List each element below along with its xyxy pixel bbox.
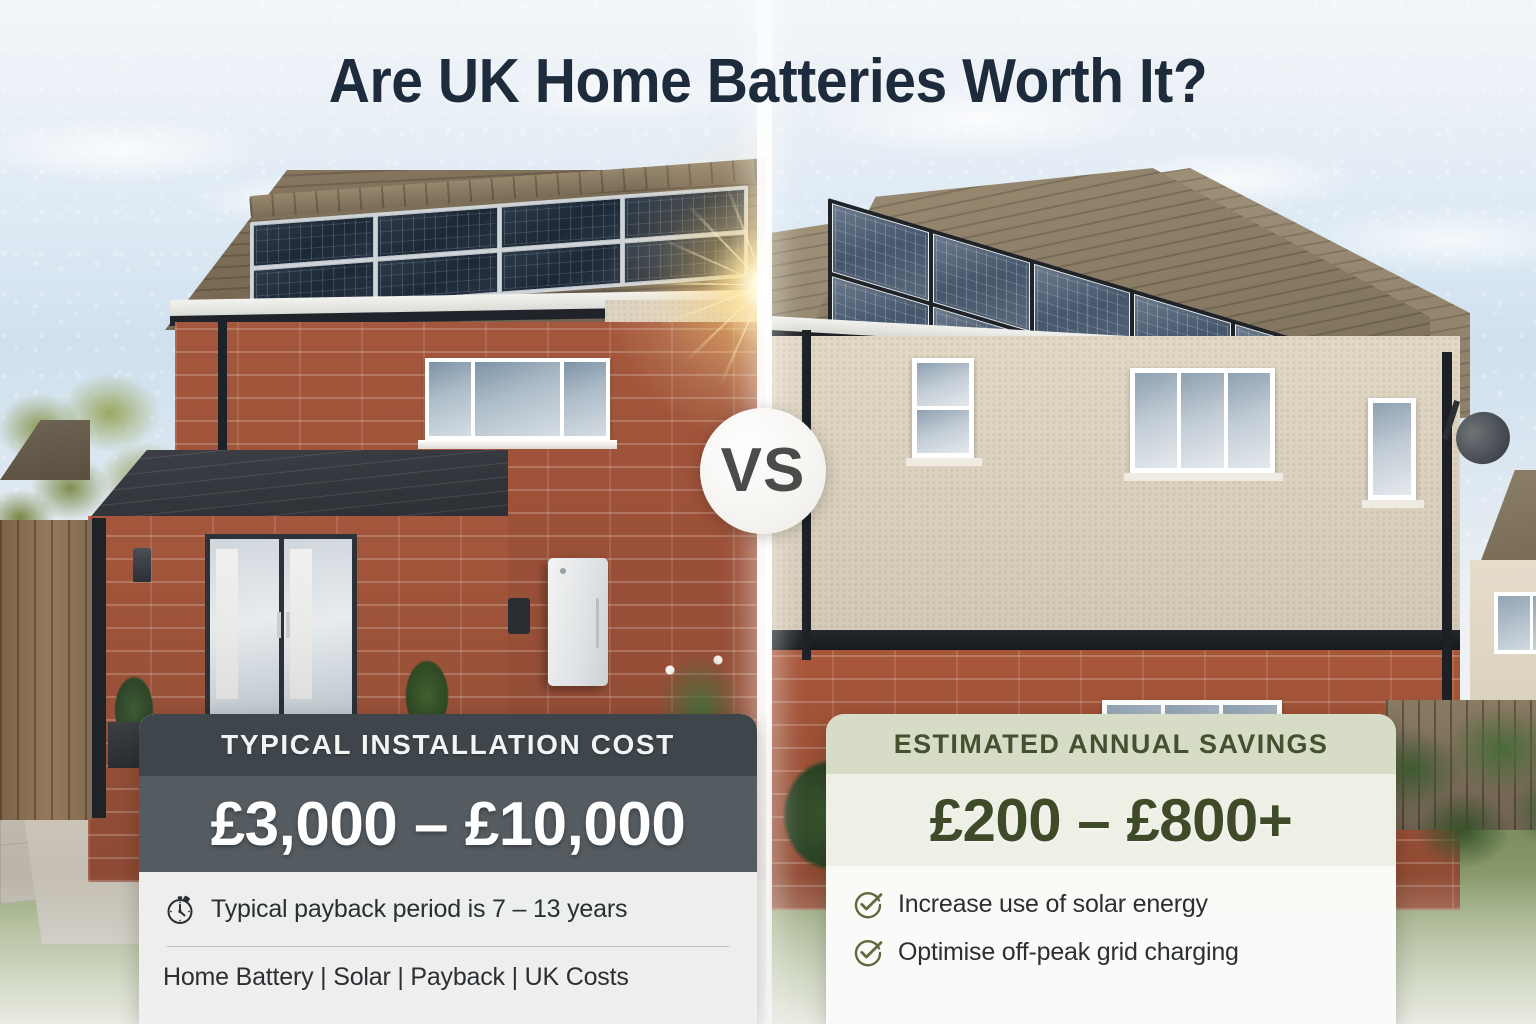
left-wooden-fence — [0, 520, 92, 820]
right-window-small-left — [912, 358, 974, 458]
installation-cost-body: Typical payback period is 7 – 13 years H… — [139, 872, 757, 1024]
annual-savings-header: ESTIMATED ANNUAL SAVINGS — [826, 714, 1396, 774]
right-neighbour-window — [1494, 592, 1536, 654]
benefit-item: Optimise off-peak grid charging — [852, 936, 1370, 968]
annual-savings-amount: £200 – £800+ — [930, 786, 1293, 855]
right-window-small-right — [1368, 398, 1416, 500]
installation-cost-header: TYPICAL INSTALLATION COST — [139, 714, 757, 776]
left-inverter-box — [508, 598, 530, 634]
card-divider-rule — [167, 946, 729, 947]
battery-indicator-led — [560, 568, 566, 574]
vs-badge: VS — [700, 408, 826, 534]
right-sill-1 — [906, 458, 982, 466]
installation-cost-amount: £3,000 – £10,000 — [211, 789, 686, 860]
installation-cost-value-band: £3,000 – £10,000 — [139, 776, 757, 872]
installation-cost-card: TYPICAL INSTALLATION COST £3,000 – £10,0… — [139, 714, 757, 1024]
right-sill-3 — [1362, 500, 1424, 508]
infographic-canvas: VS Are UK Home Batteries Worth It? TYPIC… — [0, 0, 1536, 1024]
left-gate-post — [92, 518, 106, 818]
left-upstairs-window — [425, 358, 610, 440]
annual-savings-header-label: ESTIMATED ANNUAL SAVINGS — [894, 729, 1329, 760]
installation-cost-header-label: TYPICAL INSTALLATION COST — [221, 729, 675, 761]
left-porch-roof — [88, 450, 508, 520]
page-title: Are UK Home Batteries Worth It? — [61, 46, 1474, 117]
left-window-sill — [418, 440, 617, 449]
annual-savings-card: ESTIMATED ANNUAL SAVINGS £200 – £800+ In… — [826, 714, 1396, 1024]
right-render-wall — [770, 336, 1460, 646]
payback-note-label: Typical payback period is 7 – 13 years — [211, 895, 627, 924]
home-battery-unit — [548, 558, 608, 686]
payback-note-row: Typical payback period is 7 – 13 years — [163, 892, 733, 926]
right-sill-2 — [1124, 473, 1283, 481]
left-wall-lamp — [133, 548, 151, 582]
annual-savings-body: Increase use of solar energy Optimise of… — [826, 866, 1396, 1024]
topic-tags: Home Battery | Solar | Payback | UK Cost… — [163, 963, 733, 992]
benefit-label: Optimise off-peak grid charging — [898, 938, 1239, 967]
check-circle-icon — [852, 936, 884, 968]
right-window-large — [1130, 368, 1275, 473]
left-patio-doors — [205, 534, 357, 729]
benefit-label: Increase use of solar energy — [898, 890, 1208, 919]
stopwatch-icon — [163, 892, 197, 926]
left-door-handle — [277, 612, 281, 638]
benefit-item: Increase use of solar energy — [852, 888, 1370, 920]
right-string-course — [770, 630, 1460, 652]
annual-savings-value-band: £200 – £800+ — [826, 774, 1396, 866]
sun-rays-icon — [655, 175, 766, 395]
check-circle-icon — [852, 888, 884, 920]
vs-label: VS — [721, 440, 806, 502]
left-door-handle-2 — [286, 612, 290, 638]
